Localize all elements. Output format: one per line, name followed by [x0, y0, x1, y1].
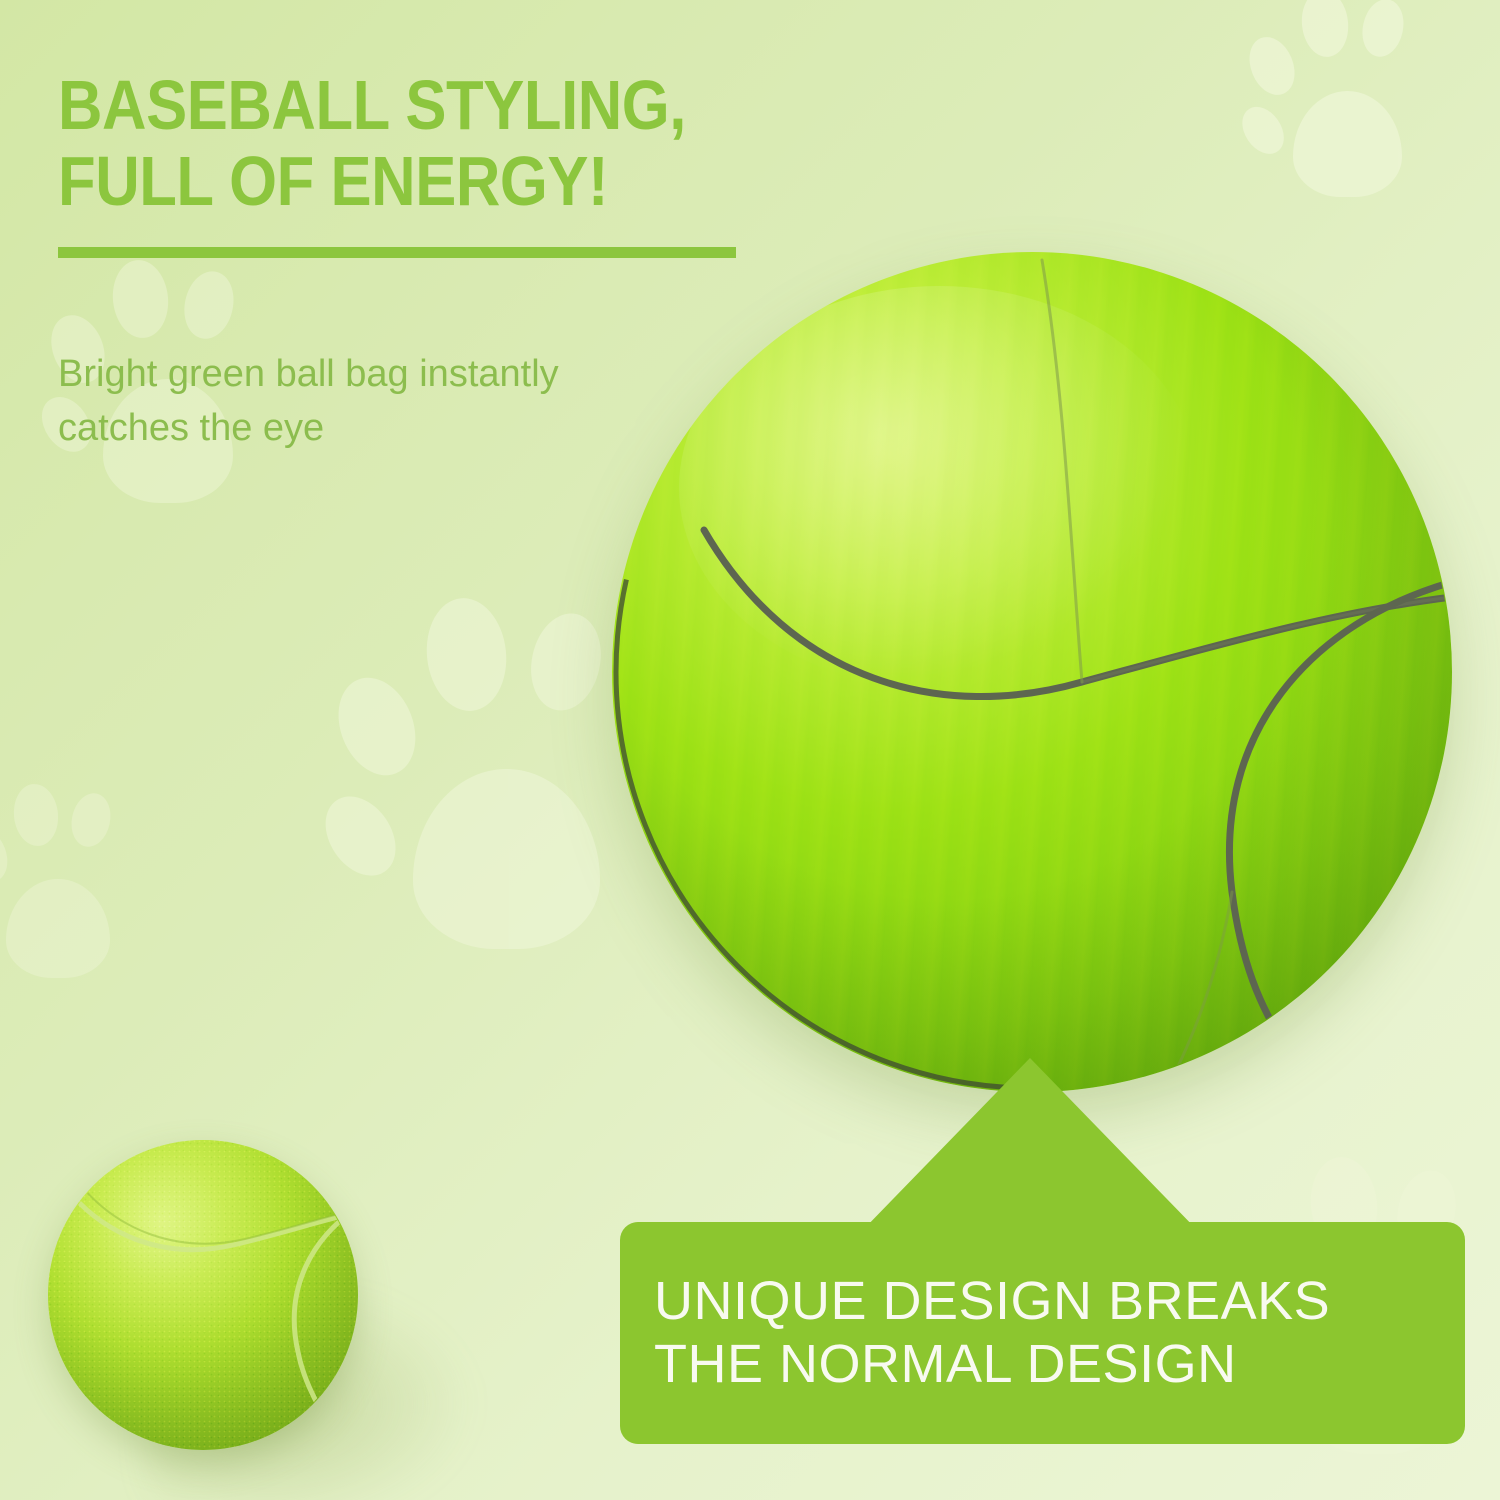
- paw-toe: [109, 258, 172, 342]
- product-feature-poster: BASEBALL STYLING, FULL OF ENERGY! Bright…: [0, 0, 1500, 1500]
- paw-toe: [421, 594, 512, 715]
- paw-print-icon: [0, 780, 160, 995]
- small-tennis-ball: [48, 1140, 358, 1450]
- paw-toe: [1242, 30, 1303, 101]
- callout-pointer: [860, 1058, 1200, 1233]
- large-tennis-ball: [612, 252, 1452, 1092]
- large-ball-seams: [612, 252, 1452, 1092]
- paw-pad: [6, 879, 110, 978]
- paw-toe: [179, 267, 239, 343]
- paw-print-icon: [1245, 0, 1455, 215]
- paw-pad: [1293, 91, 1402, 197]
- paw-toe: [311, 783, 410, 888]
- headline-block: BASEBALL STYLING, FULL OF ENERGY!: [58, 68, 878, 258]
- paw-toe: [67, 790, 115, 850]
- paw-toe: [1234, 99, 1292, 161]
- headline-line-2: FULL OF ENERGY!: [58, 144, 780, 220]
- paw-toe: [11, 782, 61, 849]
- paw-toe: [522, 607, 609, 717]
- small-ball-seams: [48, 1140, 358, 1450]
- paw-toe: [1357, 0, 1408, 60]
- banner-line-2: THE NORMAL DESIGN: [654, 1333, 1431, 1396]
- paw-toe: [324, 666, 429, 787]
- paw-pad: [413, 769, 600, 948]
- headline-line-1: BASEBALL STYLING,: [58, 68, 780, 144]
- paw-toe: [0, 822, 15, 889]
- paw-toe: [1298, 0, 1351, 59]
- callout-banner: UNIQUE DESIGN BREAKS THE NORMAL DESIGN: [620, 1222, 1465, 1444]
- banner-line-1: UNIQUE DESIGN BREAKS: [654, 1270, 1431, 1333]
